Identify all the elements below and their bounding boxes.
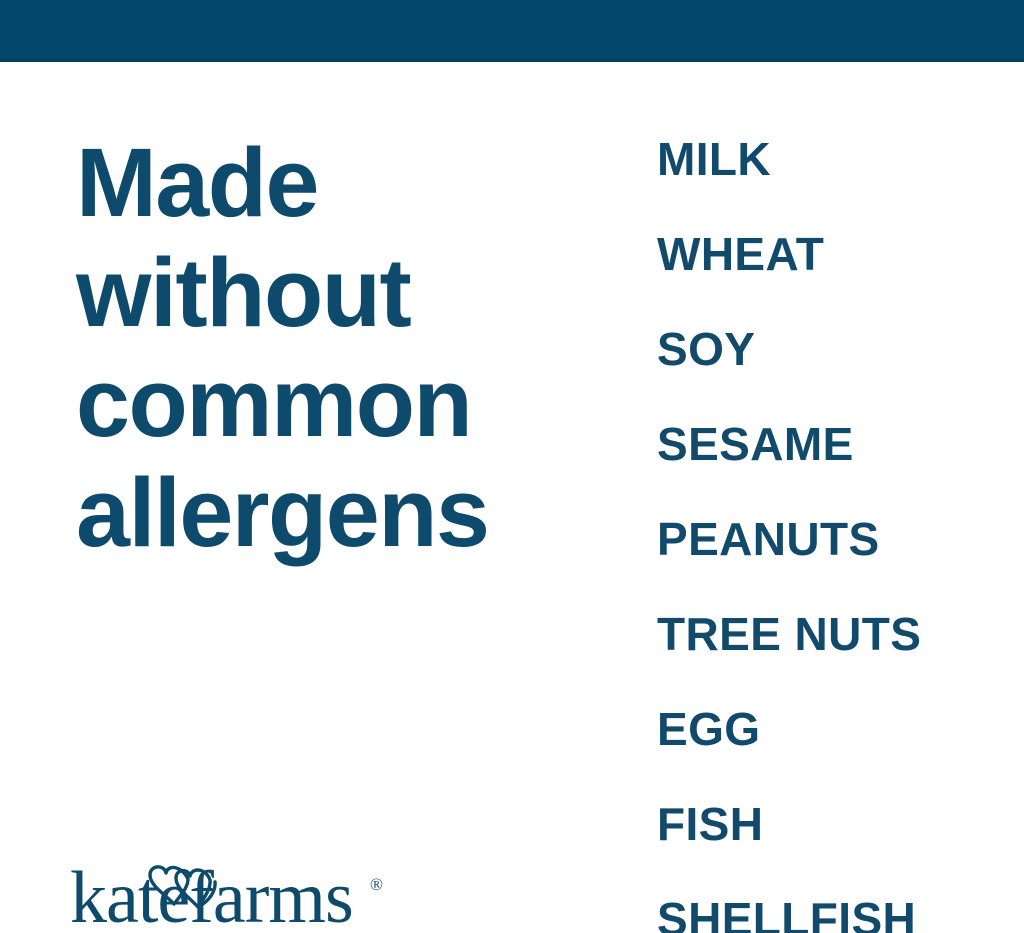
headline-line-3: common: [76, 348, 596, 458]
top-navy-band: [0, 0, 1024, 62]
list-item: SHELLFISH: [657, 894, 997, 933]
list-item: PEANUTS: [657, 514, 997, 609]
logo-wordmark: katefarms: [70, 857, 353, 930]
registered-trademark-mark: ®: [370, 875, 383, 894]
headline-line-2: without: [76, 238, 596, 348]
kate-farms-logo: katefarms ®: [70, 846, 400, 930]
list-item: SESAME: [657, 419, 997, 514]
top-navy-band-edge: [0, 59, 1024, 62]
list-item: WHEAT: [657, 229, 997, 324]
list-item: MILK: [657, 134, 997, 229]
headline-line-4: allergens: [76, 458, 596, 568]
headline-line-1: Made: [76, 128, 596, 238]
list-item: TREE NUTS: [657, 609, 997, 704]
allergen-poster: Made without common allergens katefarms …: [0, 0, 1024, 933]
allergen-list: MILK WHEAT SOY SESAME PEANUTS TREE NUTS …: [657, 134, 997, 933]
list-item: FISH: [657, 799, 997, 894]
list-item: SOY: [657, 324, 997, 419]
page-title: Made without common allergens: [76, 128, 596, 568]
list-item: EGG: [657, 704, 997, 799]
